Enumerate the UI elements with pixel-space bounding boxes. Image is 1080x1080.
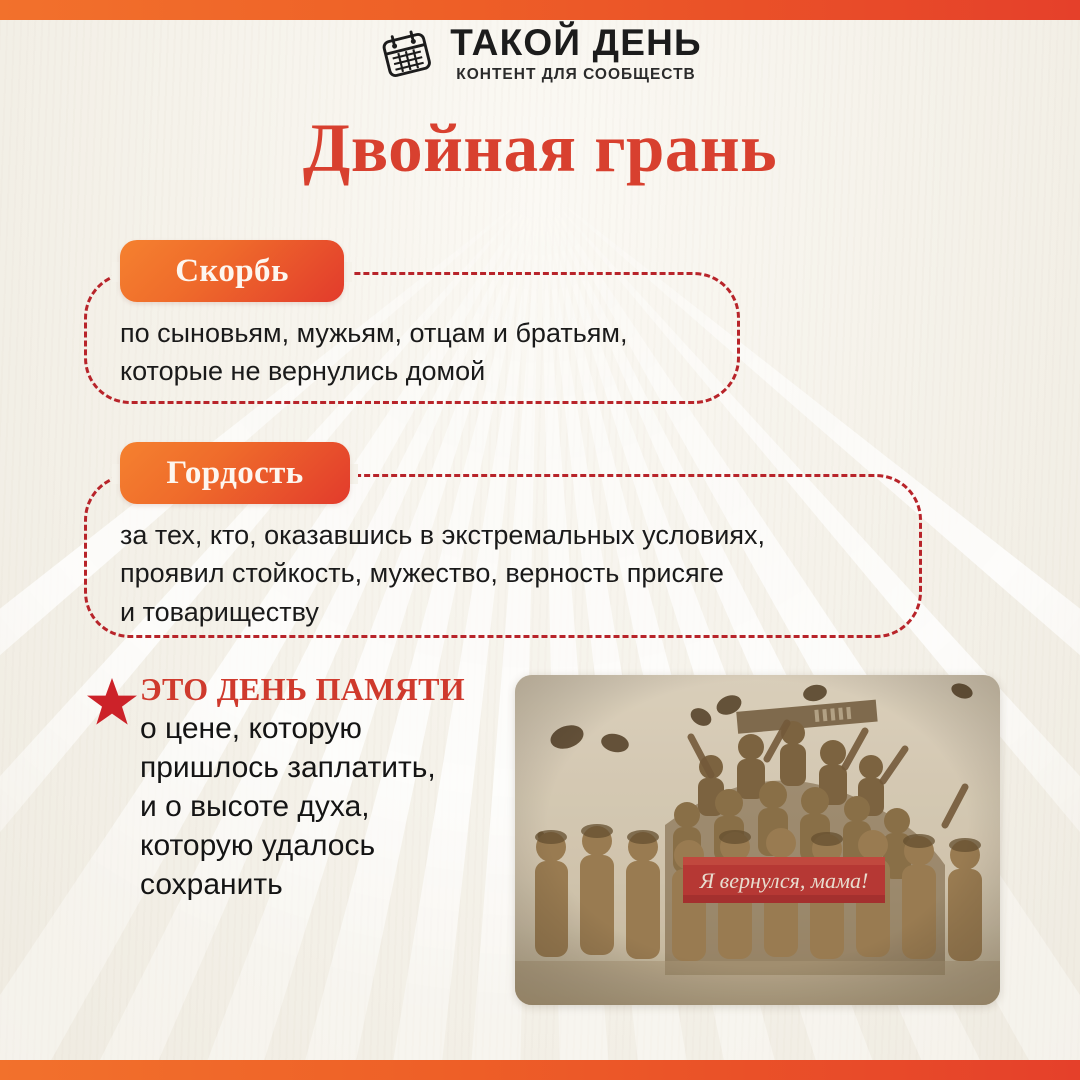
card-sorrow-text: по сыновьям, мужьям, отцам и братьям, ко…: [120, 314, 730, 391]
brand-text: ТАКОЙ ДЕНЬ КОНТЕНТ ДЛЯ СООБЩЕСТВ: [450, 24, 702, 84]
historic-photo: Я вернулся, мама!: [515, 675, 1000, 1005]
card-pride-text: за тех, кто, оказавшись в экстремальных …: [120, 516, 910, 631]
poster-canvas: ТАКОЙ ДЕНЬ КОНТЕНТ ДЛЯ СООБЩЕСТВ Двойная…: [0, 0, 1080, 1080]
badge-pride: Гордость: [120, 442, 350, 504]
memorial-body: о цене, которую пришлось заплатить, и о …: [140, 709, 500, 904]
page-title: Двойная грань: [0, 112, 1080, 184]
top-accent-bar: [0, 0, 1080, 20]
memorial-block: ЭТО ДЕНЬ ПАМЯТИ о цене, которую пришлось…: [140, 672, 500, 904]
calendar-icon: [378, 25, 436, 83]
photo-illustration: Я вернулся, мама!: [515, 675, 1000, 1005]
brand-name: ТАКОЙ ДЕНЬ: [450, 24, 702, 62]
badge-sorrow: Скорбь: [120, 240, 344, 302]
star-icon: [86, 676, 138, 728]
brand-logo: ТАКОЙ ДЕНЬ КОНТЕНТ ДЛЯ СООБЩЕСТВ: [0, 24, 1080, 84]
bottom-accent-bar: [0, 1060, 1080, 1080]
memorial-heading: ЭТО ДЕНЬ ПАМЯТИ: [140, 672, 500, 707]
brand-tagline: КОНТЕНТ ДЛЯ СООБЩЕСТВ: [456, 66, 696, 84]
